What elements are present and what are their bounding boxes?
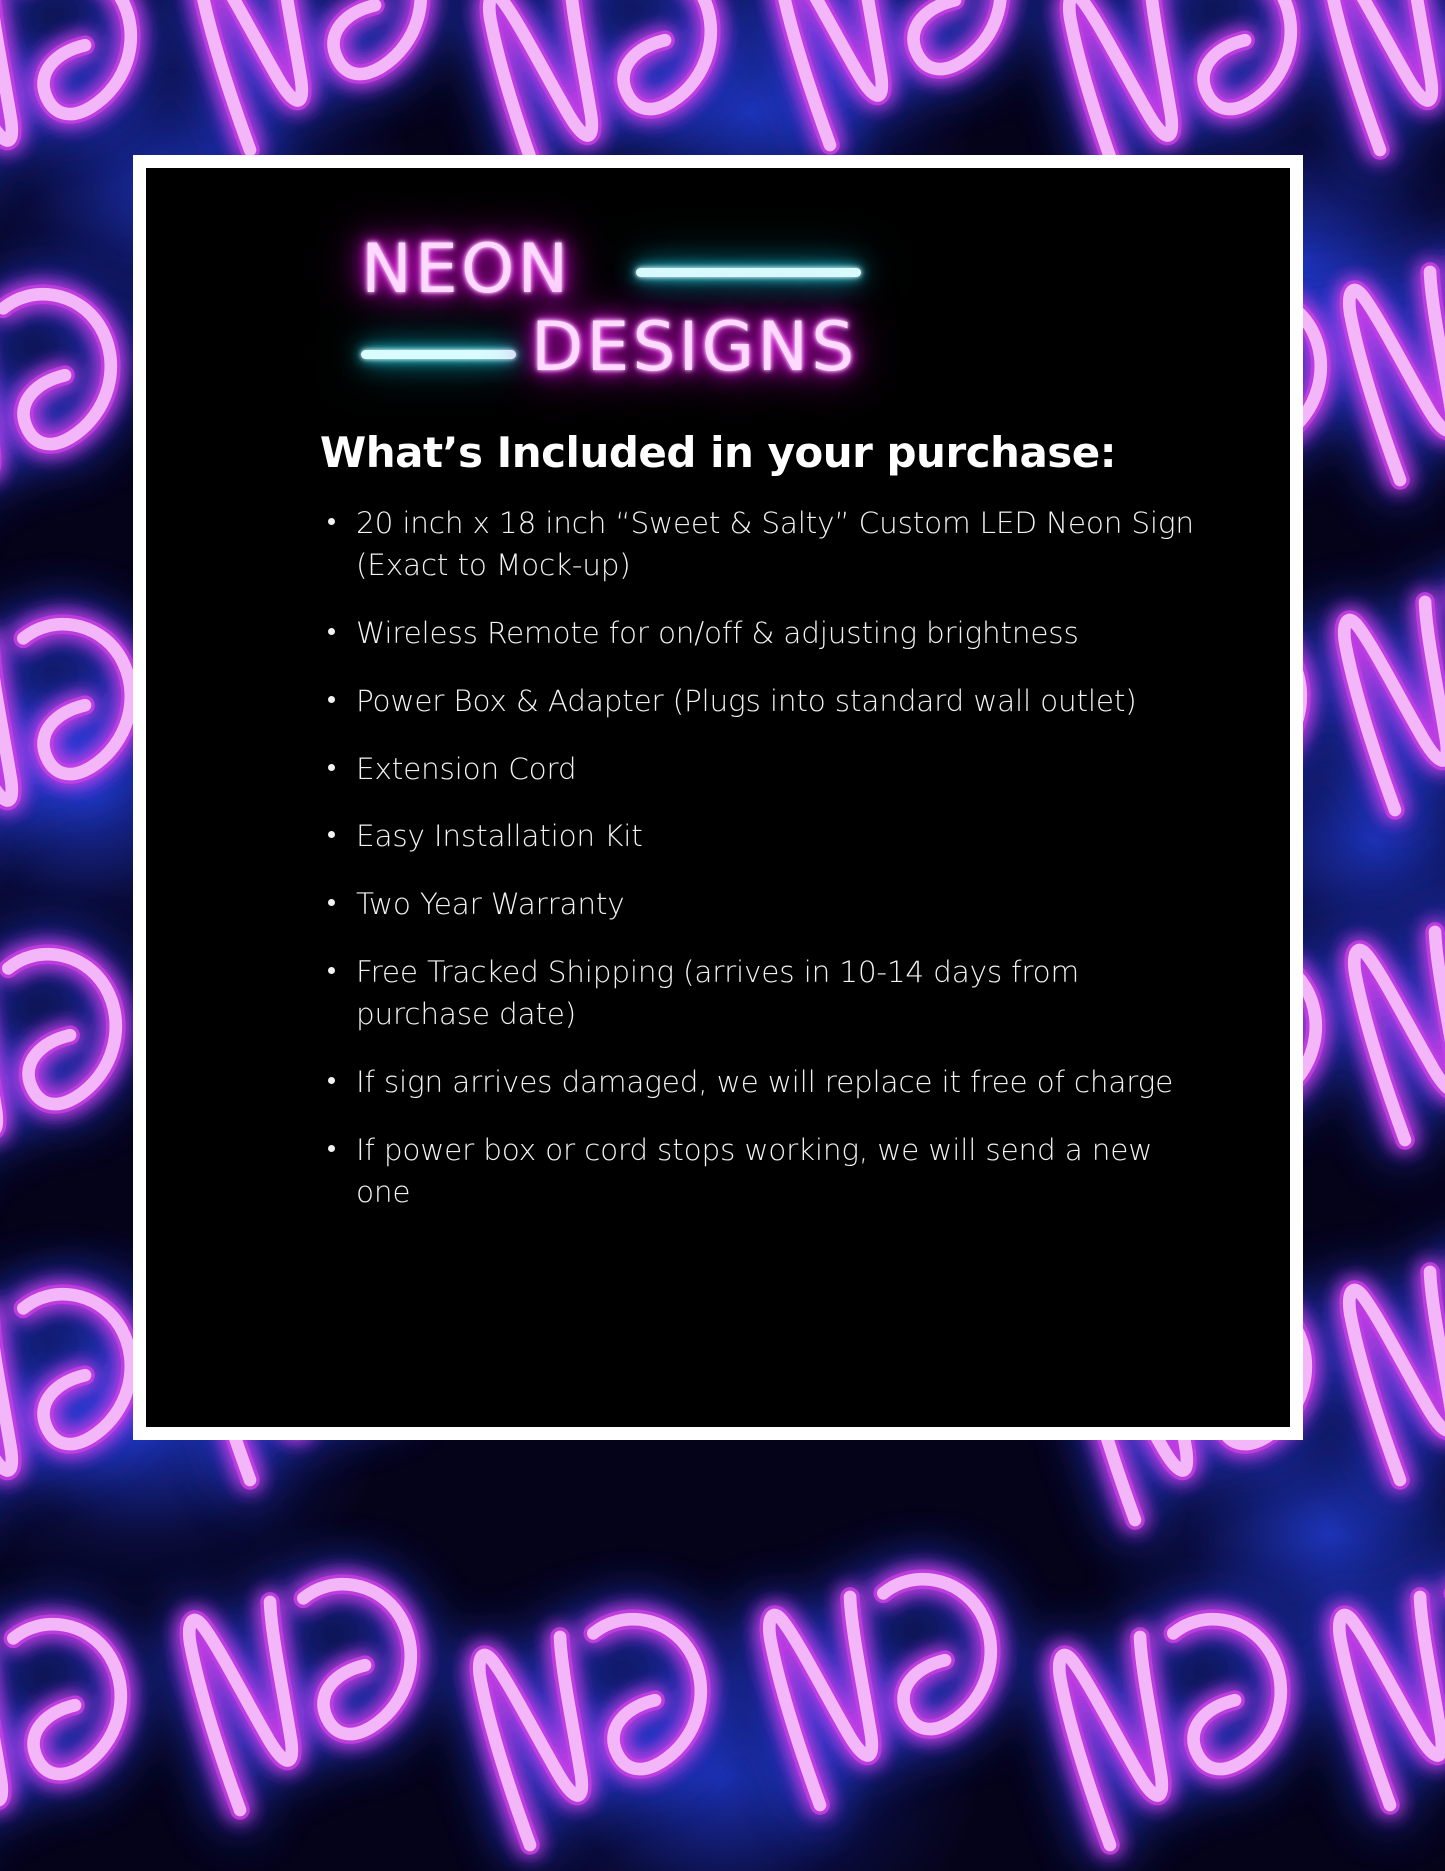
list-item: Wireless Remote for on/off & adjusting b… bbox=[326, 613, 1204, 655]
neon-bar-cyan-top-icon bbox=[636, 268, 861, 277]
list-item: Extension Cord bbox=[326, 749, 1204, 791]
poster-black-card: NEON DESIGNS What’s Included in your pur… bbox=[146, 168, 1290, 1427]
brand-logo: NEON DESIGNS bbox=[146, 168, 1290, 418]
page-title: What’s Included in your purchase: bbox=[146, 428, 1290, 477]
included-items-list: 20 inch x 18 inch “Sweet & Salty” Custom… bbox=[146, 503, 1290, 1214]
list-item: Two Year Warranty bbox=[326, 884, 1204, 926]
list-item: If sign arrives damaged, we will replace… bbox=[326, 1062, 1204, 1104]
logo-word-neon: NEON bbox=[361, 230, 571, 309]
list-item: If power box or cord stops working, we w… bbox=[326, 1130, 1204, 1214]
logo-word-designs: DESIGNS bbox=[531, 308, 857, 387]
neon-bar-cyan-left-icon bbox=[361, 350, 516, 359]
list-item: 20 inch x 18 inch “Sweet & Salty” Custom… bbox=[326, 503, 1204, 587]
poster-white-frame: NEON DESIGNS What’s Included in your pur… bbox=[133, 155, 1303, 1440]
list-item: Free Tracked Shipping (arrives in 10-14 … bbox=[326, 952, 1204, 1036]
poster-page: NEON DESIGNS What’s Included in your pur… bbox=[0, 0, 1445, 1871]
list-item: Easy Installation Kit bbox=[326, 816, 1204, 858]
list-item: Power Box & Adapter (Plugs into standard… bbox=[326, 681, 1204, 723]
